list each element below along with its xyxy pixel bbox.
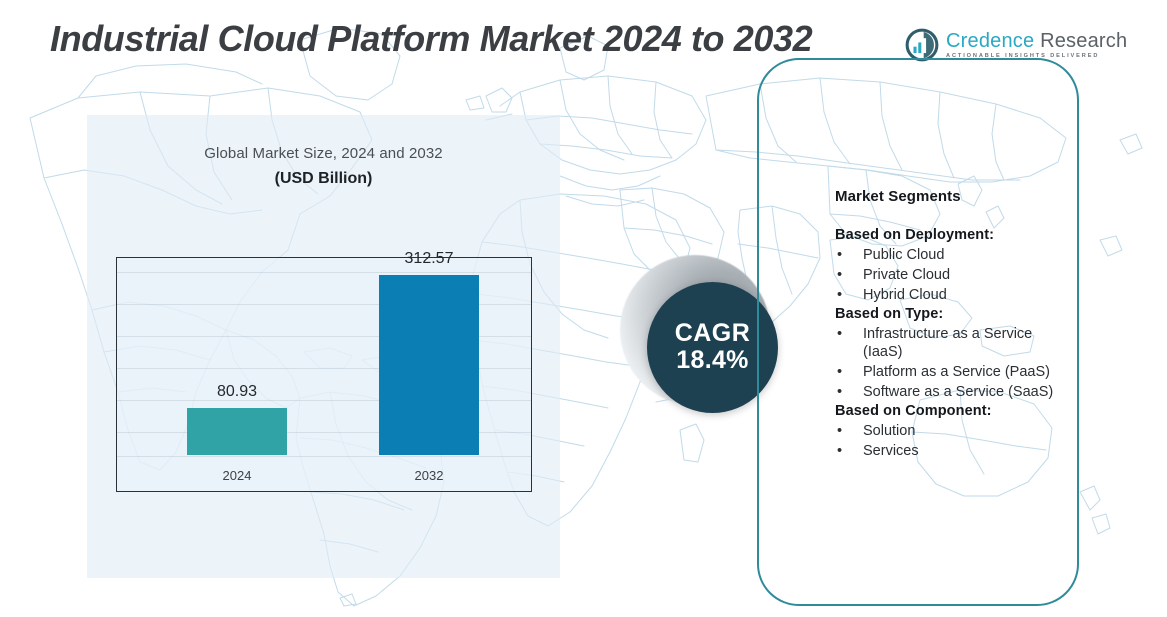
bar-chart: 80.93 312.57 2024 2032	[116, 257, 532, 492]
bullet-icon: •	[835, 422, 863, 441]
segment-item-label: Software as a Service (SaaS)	[863, 383, 1075, 402]
segment-item: • Hybrid Cloud	[835, 286, 1075, 305]
chart-bars: 80.93 312.57	[117, 275, 531, 455]
cagr-label: CAGR	[675, 320, 751, 346]
bullet-icon: •	[835, 325, 863, 344]
segment-heading-deployment: Based on Deployment:	[835, 227, 1075, 243]
bullet-icon: •	[835, 383, 863, 402]
bullet-icon: •	[835, 442, 863, 461]
x-axis-label-2024: 2024	[157, 468, 317, 483]
segment-item-label: Platform as a Service (PaaS)	[863, 363, 1075, 382]
segment-item-label: Private Cloud	[863, 266, 1075, 285]
bar-value-2024: 80.93	[157, 383, 317, 401]
bar-2032	[379, 275, 479, 455]
segment-item: • Infrastructure as a Service (IaaS)	[835, 325, 1075, 363]
segment-item-label: Solution	[863, 422, 1075, 441]
segment-heading-type: Based on Type:	[835, 306, 1075, 322]
bar-2024	[187, 408, 287, 455]
segment-group-component: Based on Component: • Solution • Service…	[835, 403, 1075, 461]
segment-item: • Private Cloud	[835, 266, 1075, 285]
segment-group-type: Based on Type: • Infrastructure as a Ser…	[835, 306, 1075, 402]
segment-item: • Services	[835, 442, 1075, 461]
segment-item: • Public Cloud	[835, 246, 1075, 265]
segment-item: • Software as a Service (SaaS)	[835, 383, 1075, 402]
segment-item: • Platform as a Service (PaaS)	[835, 363, 1075, 382]
x-axis-label-2032: 2032	[349, 468, 509, 483]
segment-item: • Solution	[835, 422, 1075, 441]
brand-logo: Credence Research Actionable Insights De…	[905, 28, 1127, 62]
logo-name-secondary: Research	[1040, 30, 1127, 52]
page-title: Industrial Cloud Platform Market 2024 to…	[50, 18, 812, 60]
cagr-value: 18.4%	[676, 346, 748, 375]
chart-caption: Global Market Size, 2024 and 2032	[87, 145, 560, 162]
segment-item-label: Hybrid Cloud	[863, 286, 1075, 305]
bullet-icon: •	[835, 363, 863, 382]
logo-name-primary: Credence	[946, 30, 1034, 52]
segment-item-label: Public Cloud	[863, 246, 1075, 265]
chart-units-label: (USD Billion)	[87, 170, 560, 188]
logo-name: Credence Research	[946, 31, 1127, 51]
bullet-icon: •	[835, 266, 863, 285]
segment-item-label: Infrastructure as a Service (IaaS)	[863, 325, 1075, 363]
segment-heading-component: Based on Component:	[835, 403, 1075, 419]
circle-bar-chart-logo-icon	[905, 28, 939, 62]
logo-wordmark: Credence Research Actionable Insights De…	[946, 31, 1127, 60]
infographic-root: Industrial Cloud Platform Market 2024 to…	[0, 0, 1167, 617]
segment-group-deployment: Based on Deployment: • Public Cloud • Pr…	[835, 227, 1075, 305]
bullet-icon: •	[835, 286, 863, 305]
bullet-icon: •	[835, 246, 863, 265]
segments-title: Market Segments	[835, 188, 1075, 205]
market-segments-content: Market Segments Based on Deployment: • P…	[835, 188, 1075, 462]
segment-item-label: Services	[863, 442, 1075, 461]
bar-value-2032: 312.57	[349, 250, 509, 268]
